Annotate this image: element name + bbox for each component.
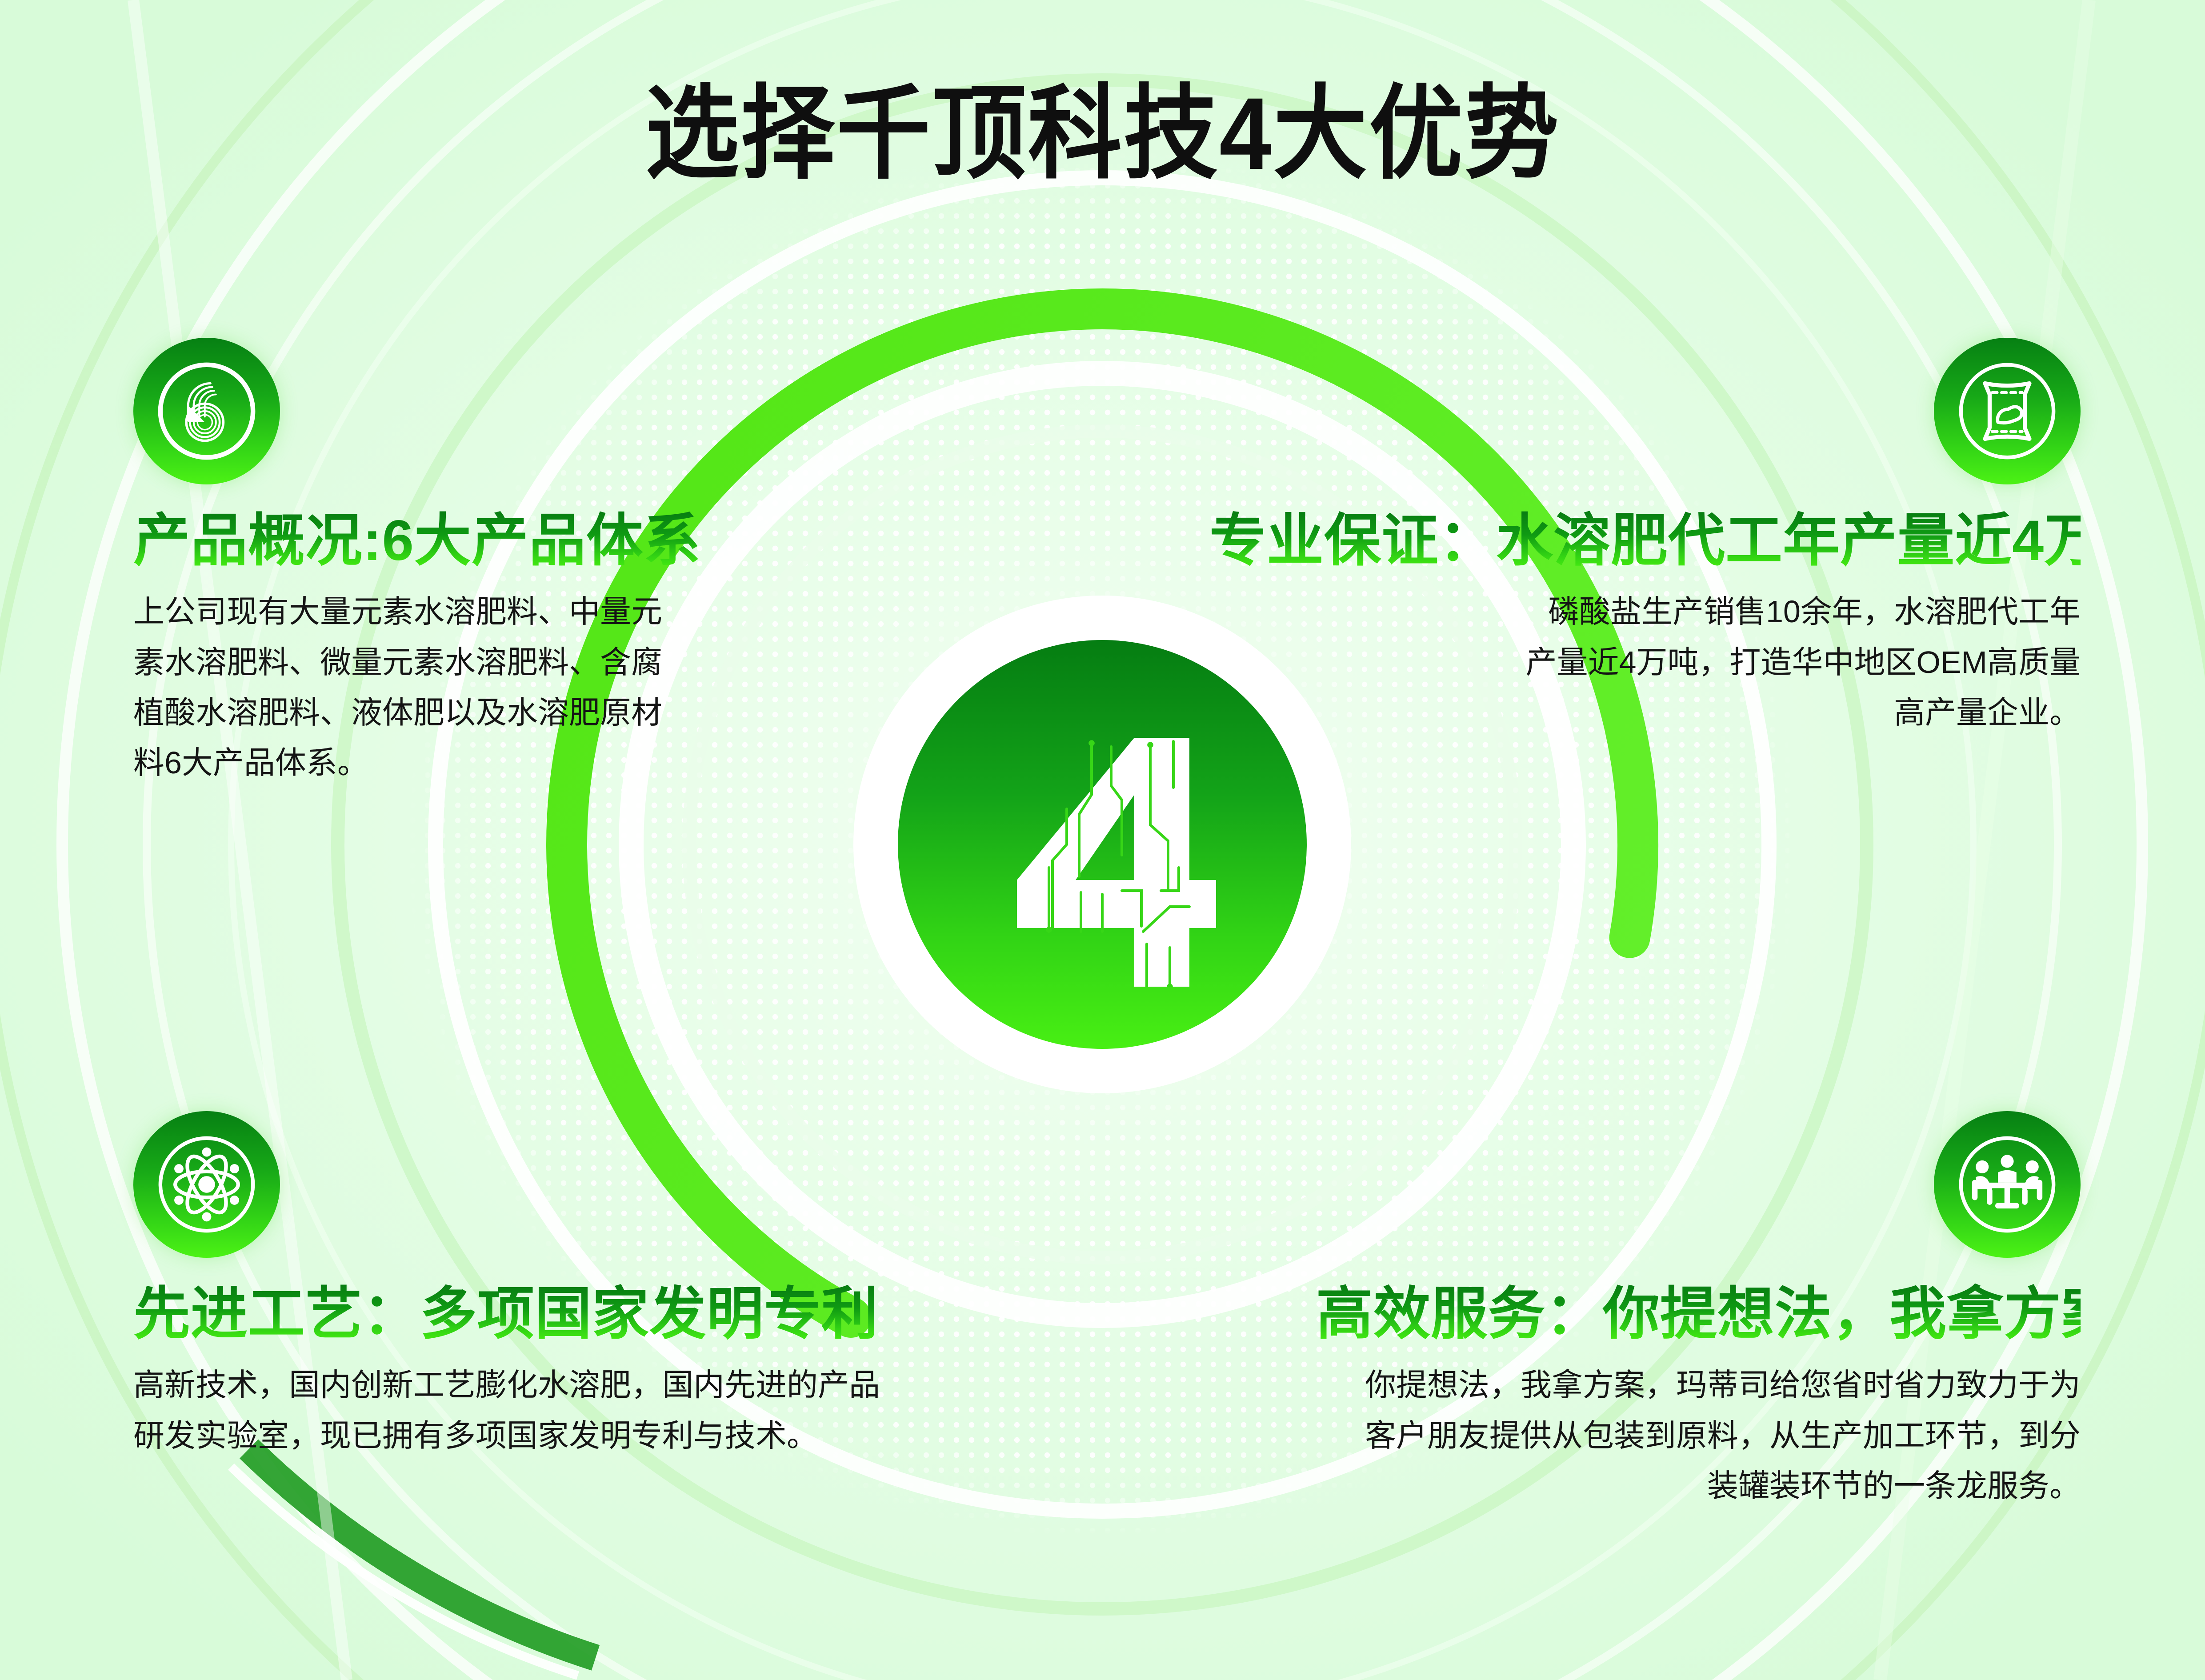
advantage-body: 高新技术，国内创新工艺膨化水溶肥，国内先进的产品研发实验室，现已拥有多项国家发明… (133, 1360, 880, 1461)
advantage-body: 磷酸盐生产销售10余年，水溶肥代工年产量近4万吨，打造华中地区OEM高质量高产量… (1521, 587, 2081, 738)
advantage-block-bottom-right: 高效服务：你提想法，我拿方案 你提想法，我拿方案，玛蒂司给您省时省力致力于为客户… (1316, 1111, 2081, 1511)
fertilizer-bag-icon (1934, 338, 2081, 484)
number-six-spiral-icon (133, 338, 280, 484)
circuit-number-four-icon (960, 702, 1245, 987)
advantage-heading: 产品概况:6大产品体系 (133, 510, 711, 572)
advantage-block-bottom-left: 先进工艺：多项国家发明专利 高新技术，国内创新工艺膨化水溶肥，国内先进的产品研发… (133, 1111, 898, 1461)
atom-icon (133, 1111, 280, 1258)
atom-glyph (151, 1129, 262, 1240)
advantage-body: 上公司现有大量元素水溶肥料、中量元素水溶肥料、微量元素水溶肥料、含腐植酸水溶肥料… (133, 587, 684, 788)
page-title-wrapper: 选择千顶科技4大优势 (0, 80, 2205, 188)
advantage-block-top-right: 专业保证：水溶肥代工年产量近4万吨 磷酸盐生产销售10余年，水溶肥代工年产量近4… (1209, 338, 2081, 738)
advantage-block-top-left: 产品概况:6大产品体系 上公司现有大量元素水溶肥料、中量元素水溶肥料、微量元素水… (133, 338, 711, 788)
page-title: 选择千顶科技4大优势 (645, 80, 1560, 188)
advantage-heading: 专业保证：水溶肥代工年产量近4万吨 (1209, 510, 2081, 572)
fertilizer-bag-glyph (1952, 356, 2063, 467)
advantage-heading: 先进工艺：多项国家发明专利 (133, 1284, 898, 1345)
meeting-people-icon (1934, 1111, 2081, 1258)
meeting-people-glyph (1952, 1129, 2063, 1240)
number-six-spiral-glyph (151, 356, 262, 467)
advantage-heading: 高效服务：你提想法，我拿方案 (1316, 1284, 2081, 1345)
advantage-body: 你提想法，我拿方案，玛蒂司给您省时省力致力于为客户朋友提供从包装到原料，从生产加… (1343, 1360, 2081, 1511)
